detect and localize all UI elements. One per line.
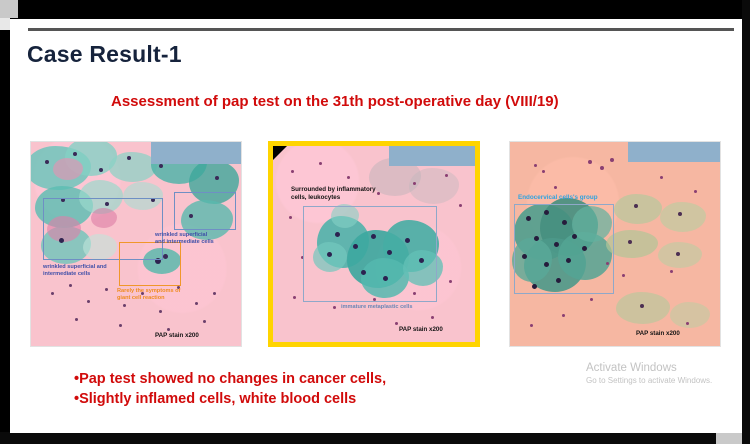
conclusion-bullet-list: •Pap test showed no changes in cancer ce… [74, 369, 386, 409]
annotation-label-metaplastic: immature metaplastic cells [341, 304, 413, 311]
annotation-label-giant-cell: Rarely the symptoms of giant cell reacti… [117, 288, 180, 302]
micrograph-panel-2[interactable]: Surrounded by inflammatory cells, leukoc… [268, 141, 480, 347]
annotation-label-endocervical: Endocervical cells's group [518, 194, 598, 202]
annotation-box-endocervical [514, 204, 614, 294]
annotation-label-wrinkled-right: wrinkled superficial and intermediate ce… [155, 232, 214, 246]
watermark-title: Activate Windows [586, 362, 712, 374]
annotation-box-metaplastic [303, 206, 437, 302]
bullet-item-1: •Pap test showed no changes in cancer ce… [74, 369, 386, 389]
window-chrome-top-left [0, 0, 18, 18]
redaction-overlay-rect [151, 142, 241, 164]
micrograph-panel-3[interactable]: Endocervical cells's group PAP stain x20… [509, 141, 721, 347]
micrograph-image-3: Endocervical cells's group PAP stain x20… [510, 142, 720, 346]
screenshot-viewport: Case Result-1 Assessment of pap test on … [0, 0, 750, 444]
watermark-subtitle: Go to Settings to activate Windows. [586, 376, 712, 385]
micrograph-panel-1[interactable]: wrinkled superficial and intermediate ce… [30, 141, 242, 347]
stain-magnification-label-1: PAP stain x200 [155, 332, 199, 339]
redaction-overlay-rect [389, 146, 475, 166]
redaction-overlay-rect [628, 142, 720, 162]
window-chrome-bottom-nub [716, 432, 742, 444]
window-chrome-right-edge [742, 0, 750, 444]
micrograph-panel-row: wrinkled superficial and intermediate ce… [10, 141, 742, 353]
windows-activation-watermark: Activate Windows Go to Settings to activ… [586, 362, 712, 385]
annotation-box-wrinkled-right [174, 192, 236, 230]
corner-marker-icon [273, 146, 287, 160]
micrograph-image-1: wrinkled superficial and intermediate ce… [31, 142, 241, 346]
stain-magnification-label-2: PAP stain x200 [399, 326, 443, 333]
title-divider-rule [28, 28, 734, 31]
page-title: Case Result-1 [27, 41, 182, 68]
annotation-label-inflammatory: Surrounded by inflammatory cells, leukoc… [291, 186, 376, 202]
annotation-label-wrinkled-left: wrinkled superficial and intermediate ce… [43, 264, 107, 278]
bullet-item-2: •Slightly inflamed cells, white blood ce… [74, 389, 386, 409]
window-chrome-left-notch [0, 18, 10, 30]
slide-subtitle: Assessment of pap test on the 31th post-… [111, 93, 559, 110]
window-chrome-bottom-edge [0, 432, 750, 444]
micrograph-image-2: Surrounded by inflammatory cells, leukoc… [273, 146, 475, 342]
stain-magnification-label-3: PAP stain x200 [636, 330, 680, 337]
presentation-slide: Case Result-1 Assessment of pap test on … [10, 19, 742, 433]
annotation-box-giant-cell [119, 242, 181, 286]
